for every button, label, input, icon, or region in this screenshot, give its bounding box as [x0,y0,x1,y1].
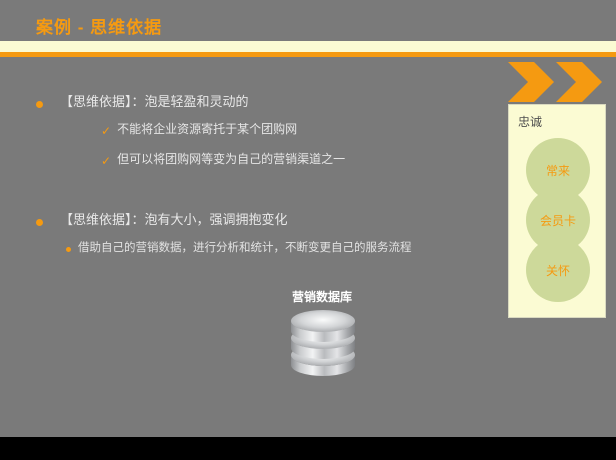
small-bullet-dot-icon [66,247,71,252]
double-chevron-right-icon [508,62,616,102]
loyalty-panel-title: 忠诚 [518,113,542,130]
check-icon: ✓ [101,155,111,167]
loyalty-circle: 关怀 [526,238,590,302]
list-item: 借助自己的营销数据，进行分析和统计，不断变更自己的服务流程 [66,241,412,256]
list-item: 【思维依据】：泡有大小，强调拥抱变化 [36,212,288,228]
bullet-dot-icon [36,101,43,108]
list-item: 【思维依据】：泡是轻盈和灵动的 [36,94,249,110]
bullet-heading-text: 【思维依据】：泡有大小，强调拥抱变化 [60,212,288,228]
bullet-dot-icon [36,219,43,226]
database-caption: 营销数据库 [276,288,368,305]
header-orange-divider [0,52,616,57]
slide-canvas: 案例 - 思维依据 【思维依据】：泡是轻盈和灵动的 ✓ 不能将企业资源寄托于某个… [0,0,616,460]
list-item: ✓ 不能将企业资源寄托于某个团购网 [101,122,297,137]
sub-item-text: 借助自己的营销数据，进行分析和统计，不断变更自己的服务流程 [78,241,412,256]
sub-item-text: 但可以将团购网等变为自己的营销渠道之一 [117,152,345,167]
check-icon: ✓ [101,125,111,137]
database-graphic: 营销数据库 [276,288,368,386]
chevron-right-icon-2 [556,62,596,102]
slide-footer-bar [0,437,616,460]
chevron-right-icon-1 [508,62,548,102]
loyalty-circle-label: 关怀 [546,262,570,279]
list-item: ✓ 但可以将团购网等变为自己的营销渠道之一 [101,152,345,167]
sub-item-text: 不能将企业资源寄托于某个团购网 [117,122,297,137]
loyalty-panel: 忠诚 常来 会员卡 关怀 [508,104,606,318]
header-cream-divider [0,41,616,52]
bullet-heading-text: 【思维依据】：泡是轻盈和灵动的 [60,94,249,110]
loyalty-circle-label: 常来 [546,162,570,179]
page-title: 案例 - 思维依据 [36,13,162,38]
loyalty-circle-label: 会员卡 [540,212,576,229]
database-icon [288,305,358,388]
